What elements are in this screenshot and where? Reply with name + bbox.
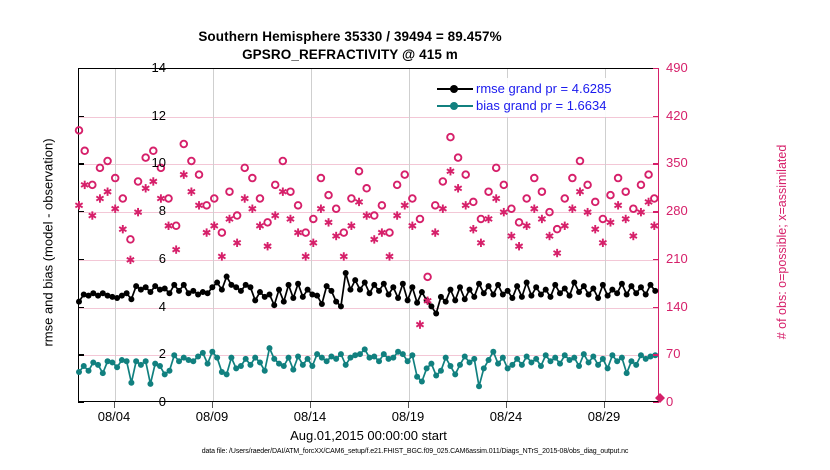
y-tick-mark-right [653,163,659,164]
y-tick-label-left: 8 [126,203,166,218]
legend-item-rmse: rmse grand pr = 4.6285 [437,80,612,97]
y-tick-label-right: 420 [666,108,710,123]
series-layer [79,69,660,403]
y-tick-mark-right [653,68,659,69]
y-tick-mark-left [78,402,84,403]
y-tick-label-left: 6 [126,251,166,266]
x-tick-label: 08/24 [471,409,541,424]
y-tick-mark-right [653,307,659,308]
y-tick-mark-right [653,211,659,212]
y-tick-label-left: 2 [126,346,166,361]
data-file-footer: data file: /Users/raeder/DAI/ATM_forcXX/… [0,448,830,455]
y-tick-mark-left [78,211,84,212]
legend-item-bias: bias grand pr = 1.6634 [437,97,612,114]
y-tick-mark-left [78,259,84,260]
legend-marker-bias [437,100,473,112]
y-tick-mark-left [78,307,84,308]
y-tick-label-left: 14 [126,60,166,75]
y-tick-mark-left [78,163,84,164]
title-block: Southern Hemisphere 35330 / 39494 = 89.4… [0,28,700,64]
y-tick-label-right: 350 [666,155,710,170]
y-axis-label-right: # of obs: o=possible; x=assimilated [775,72,789,412]
y-tick-label-right: 280 [666,203,710,218]
y-tick-label-right: 70 [666,346,710,361]
x-tick-label: 08/29 [569,409,639,424]
y-tick-mark-right [653,402,659,403]
x-tick-mark [408,402,409,408]
y-tick-mark-right [653,259,659,260]
x-tick-label: 08/19 [373,409,443,424]
y-tick-label-left: 4 [126,299,166,314]
y-axis-label-left: rmse and bias (model - observation) [41,73,56,413]
legend-marker-rmse [437,83,473,95]
y-tick-label-left: 12 [126,108,166,123]
y-tick-mark-left [78,68,84,69]
legend-label-rmse: rmse grand pr = 4.6285 [476,81,612,96]
legend: rmse grand pr = 4.6285 bias grand pr = 1… [433,78,616,117]
x-tick-mark [212,402,213,408]
x-tick-label: 08/14 [275,409,345,424]
x-tick-mark [506,402,507,408]
y-tick-label-left: 10 [126,155,166,170]
page-title-line1: Southern Hemisphere 35330 / 39494 = 89.4… [0,28,700,46]
y-tick-label-right: 210 [666,251,710,266]
x-tick-mark [114,402,115,408]
y-tick-mark-right [653,116,659,117]
y-tick-label-right: 0 [666,394,710,409]
legend-label-bias: bias grand pr = 1.6634 [476,98,606,113]
x-tick-label: 08/09 [177,409,247,424]
x-tick-mark [604,402,605,408]
x-tick-label: 08/04 [79,409,149,424]
y-tick-mark-right [653,354,659,355]
y-tick-label-left: 0 [126,394,166,409]
y-tick-label-right: 140 [666,299,710,314]
y-tick-label-right: 490 [666,60,710,75]
y-tick-mark-left [78,354,84,355]
y-tick-mark-left [78,116,84,117]
x-tick-mark [310,402,311,408]
x-axis-label: Aug.01,2015 00:00:00 start [78,428,659,443]
page-title-line2: GPSRO_REFRACTIVITY @ 415 m [0,46,700,64]
